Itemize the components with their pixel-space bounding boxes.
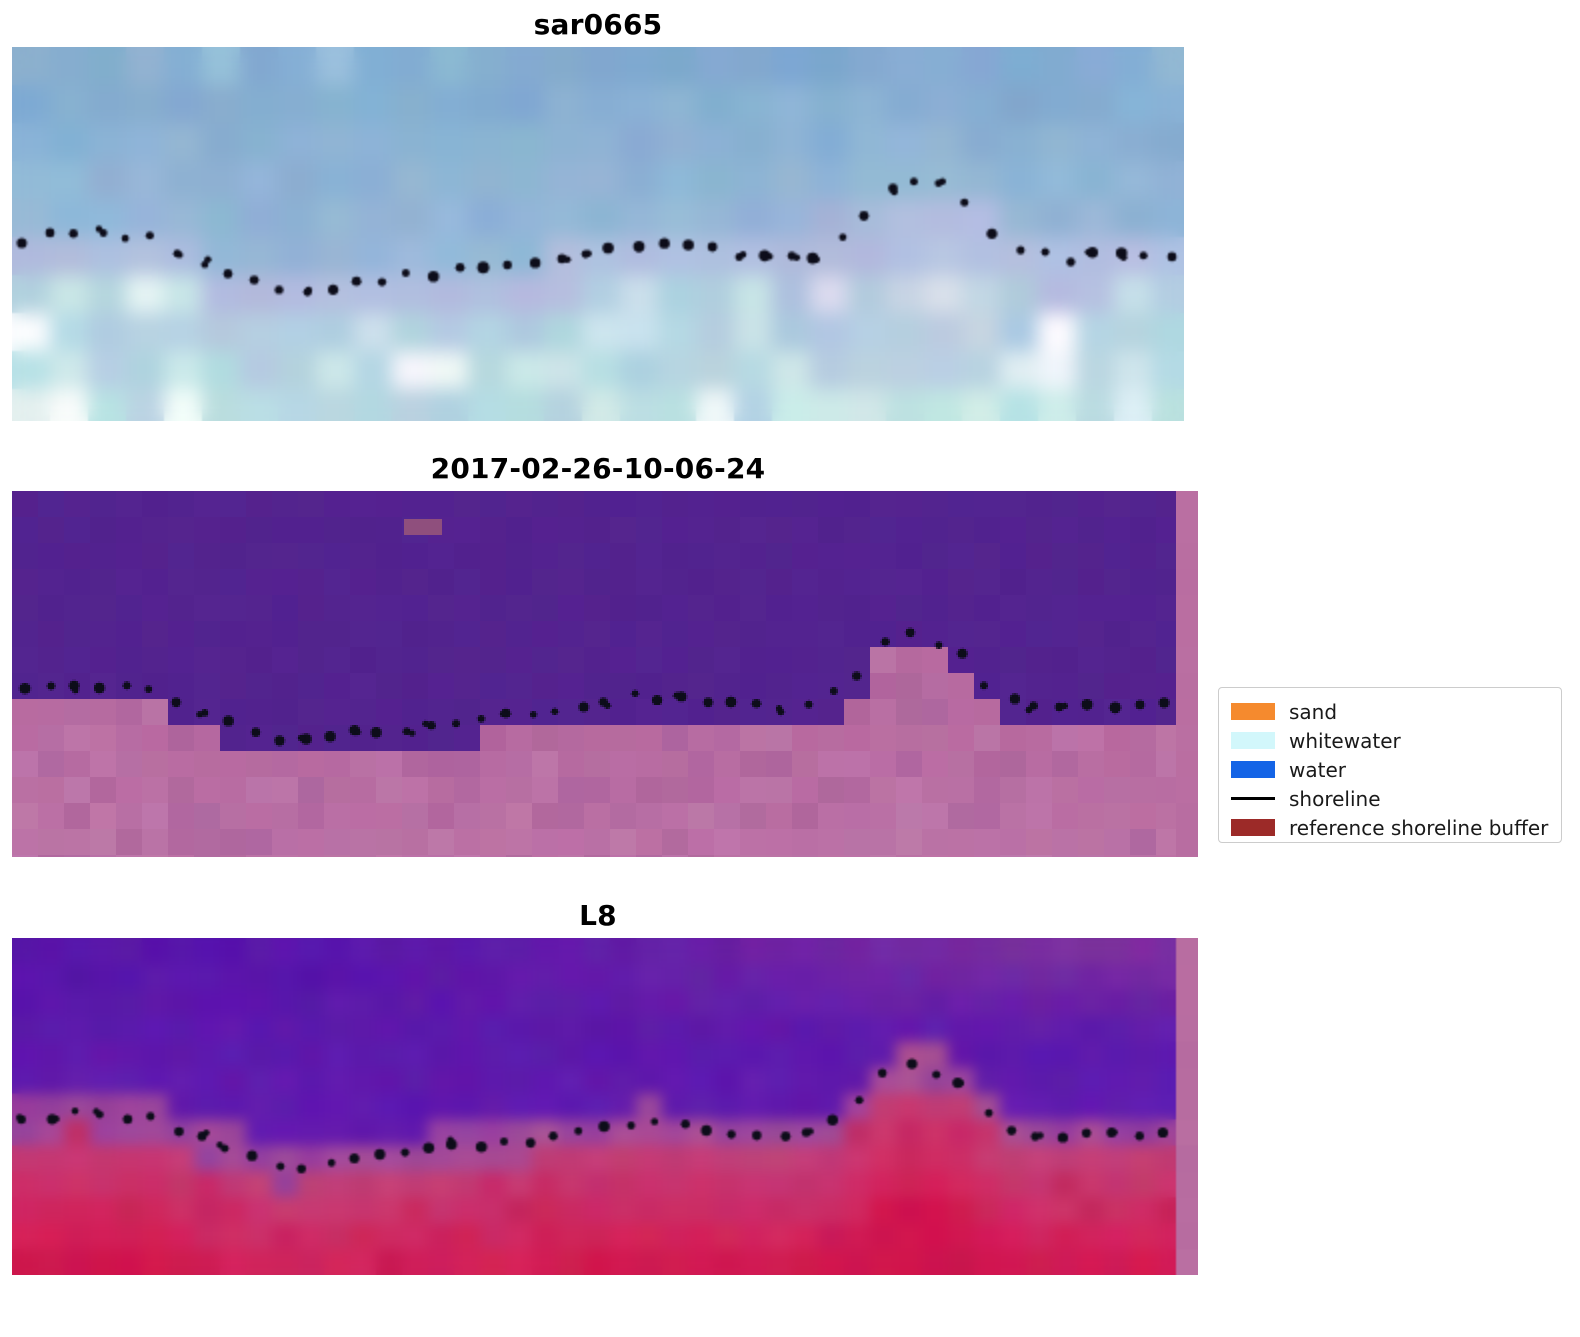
l8-panel [12,938,1198,1275]
legend-item-reference-buffer: reference shoreline buffer [1231,813,1551,842]
legend-label-whitewater: whitewater [1289,731,1401,751]
l8-index-image [12,938,1198,1275]
legend: sand whitewater water shoreline referenc… [1218,687,1562,843]
legend-label-reference-buffer: reference shoreline buffer [1289,818,1548,838]
classification-panel [12,491,1198,857]
legend-label-shoreline: shoreline [1289,789,1381,809]
sand-swatch-icon [1231,703,1275,720]
legend-item-sand: sand [1231,697,1551,726]
panel-title-date: 2017-02-26-10-06-24 [12,452,1184,485]
sar-rgb-panel [12,47,1184,421]
sar-rgb-image [12,47,1184,421]
reference-buffer-swatch-icon [1231,819,1275,836]
legend-item-shoreline: shoreline [1231,784,1551,813]
legend-item-whitewater: whitewater [1231,726,1551,755]
legend-label-sand: sand [1289,702,1337,722]
whitewater-swatch-icon [1231,732,1275,749]
panel-title-sar: sar0665 [12,8,1184,41]
legend-item-water: water [1231,755,1551,784]
classification-image [12,491,1198,857]
legend-label-water: water [1289,760,1346,780]
panel-title-l8: L8 [12,899,1184,932]
water-swatch-icon [1231,761,1275,778]
shoreline-line-icon [1231,797,1275,800]
